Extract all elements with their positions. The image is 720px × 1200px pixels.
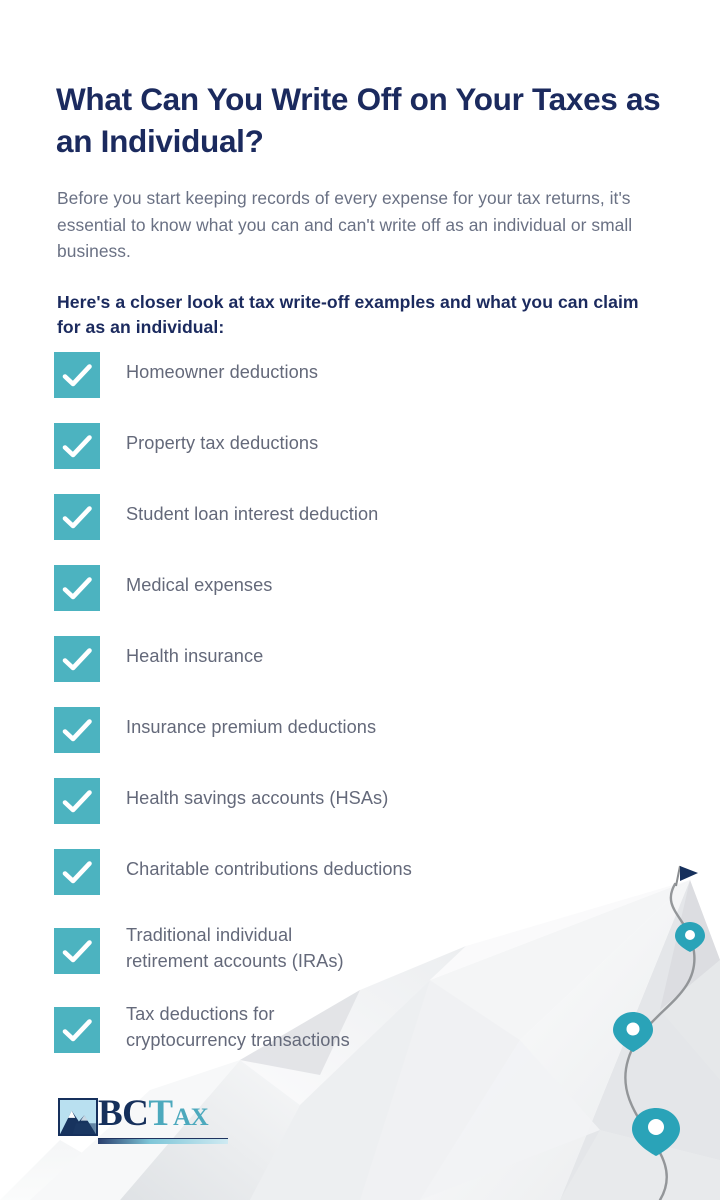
checkmark-icon[interactable] [54, 1007, 100, 1053]
list-item[interactable]: Tax deductions for cryptocurrency transa… [54, 999, 674, 1078]
checkmark-icon[interactable] [54, 636, 100, 682]
list-item[interactable]: Health savings accounts (HSAs) [54, 778, 674, 849]
checkmark-icon[interactable] [54, 928, 100, 974]
list-item-label: Medical expenses [126, 573, 272, 599]
list-item-label: Traditional individual retirement accoun… [126, 923, 344, 975]
list-item[interactable]: Traditional individual retirement accoun… [54, 920, 674, 999]
logo-text-t: T [148, 1093, 173, 1134]
logo-text-ax: AX [173, 1104, 208, 1131]
list-item[interactable]: Charitable contributions deductions [54, 849, 674, 920]
list-item[interactable]: Health insurance [54, 636, 674, 707]
logo-wordmark: BCTAX [98, 1095, 208, 1132]
section-subheading: Here's a closer look at tax write-off ex… [57, 290, 657, 342]
tax-writeoff-checklist: Homeowner deductions Property tax deduct… [54, 352, 674, 1078]
list-item-label: Charitable contributions deductions [126, 857, 412, 883]
checkmark-icon[interactable] [54, 707, 100, 753]
intro-paragraph: Before you start keeping records of ever… [57, 185, 647, 264]
list-item-label: Health savings accounts (HSAs) [126, 786, 388, 812]
list-item-label: Health insurance [126, 644, 263, 670]
list-item[interactable]: Medical expenses [54, 565, 674, 636]
logo-text-bc: BC [98, 1093, 148, 1134]
map-pin-icon [675, 922, 705, 952]
checkmark-icon[interactable] [54, 849, 100, 895]
bctax-logo[interactable]: BCTAX [58, 1095, 228, 1145]
list-item-label: Property tax deductions [126, 431, 318, 457]
checkmark-icon[interactable] [54, 778, 100, 824]
map-pin-icon [632, 1108, 680, 1156]
infographic-page: What Can You Write Off on Your Taxes as … [0, 0, 720, 1200]
checkmark-icon[interactable] [54, 423, 100, 469]
summit-flag-icon [676, 866, 698, 886]
page-title: What Can You Write Off on Your Taxes as … [56, 78, 676, 162]
list-item[interactable]: Homeowner deductions [54, 352, 674, 423]
logo-underline-bar [98, 1138, 228, 1144]
checkmark-icon[interactable] [54, 565, 100, 611]
list-item-label: Student loan interest deduction [126, 502, 378, 528]
list-item[interactable]: Student loan interest deduction [54, 494, 674, 565]
list-item-label: Homeowner deductions [126, 360, 318, 386]
checkmark-icon[interactable] [54, 494, 100, 540]
list-item[interactable]: Property tax deductions [54, 423, 674, 494]
list-item-label: Insurance premium deductions [126, 715, 376, 741]
mountain-logo-icon [58, 1098, 98, 1136]
list-item[interactable]: Insurance premium deductions [54, 707, 674, 778]
list-item-label: Tax deductions for cryptocurrency transa… [126, 1002, 350, 1054]
checkmark-icon[interactable] [54, 352, 100, 398]
